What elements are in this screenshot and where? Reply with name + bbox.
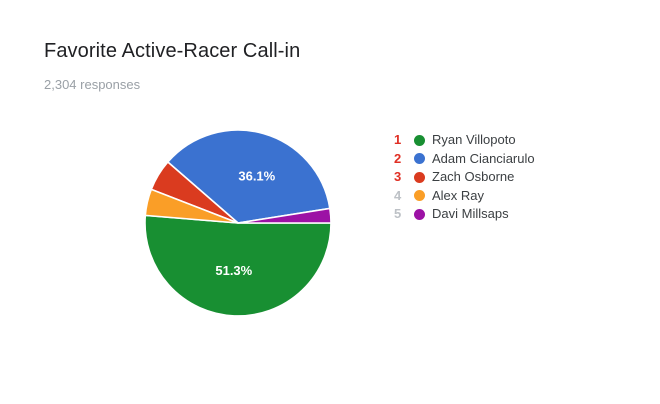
legend-item[interactable]: 2Adam Cianciarulo xyxy=(394,150,604,169)
legend-label: Davi Millsaps xyxy=(432,205,509,223)
legend-label: Adam Cianciarulo xyxy=(432,150,535,168)
legend-rank: 3 xyxy=(394,168,409,186)
legend-color-dot-icon xyxy=(414,153,425,164)
legend-label: Alex Ray xyxy=(432,187,484,205)
legend-label: Zach Osborne xyxy=(432,168,514,186)
chart-card: Favorite Active-Racer Call-in 2,304 resp… xyxy=(0,0,660,404)
pie-chart[interactable]: 51.3%36.1% xyxy=(140,125,336,321)
legend-color-dot-icon xyxy=(414,172,425,183)
legend-label: Ryan Villopoto xyxy=(432,131,516,149)
legend-rank: 4 xyxy=(394,187,409,205)
legend-color-dot-icon xyxy=(414,190,425,201)
legend-item[interactable]: 1Ryan Villopoto xyxy=(394,131,604,150)
legend-item[interactable]: 3Zach Osborne xyxy=(394,168,604,187)
legend-item[interactable]: 4Alex Ray xyxy=(394,187,604,206)
legend-color-dot-icon xyxy=(414,135,425,146)
pie-slice-label: 36.1% xyxy=(238,168,275,183)
pie-slice-label: 51.3% xyxy=(215,263,252,278)
legend-color-dot-icon xyxy=(414,209,425,220)
chart-legend: 1Ryan Villopoto2Adam Cianciarulo3Zach Os… xyxy=(394,131,604,224)
legend-rank: 5 xyxy=(394,205,409,223)
legend-item[interactable]: 5Davi Millsaps xyxy=(394,205,604,224)
legend-rank: 1 xyxy=(394,131,409,149)
legend-rank: 2 xyxy=(394,150,409,168)
